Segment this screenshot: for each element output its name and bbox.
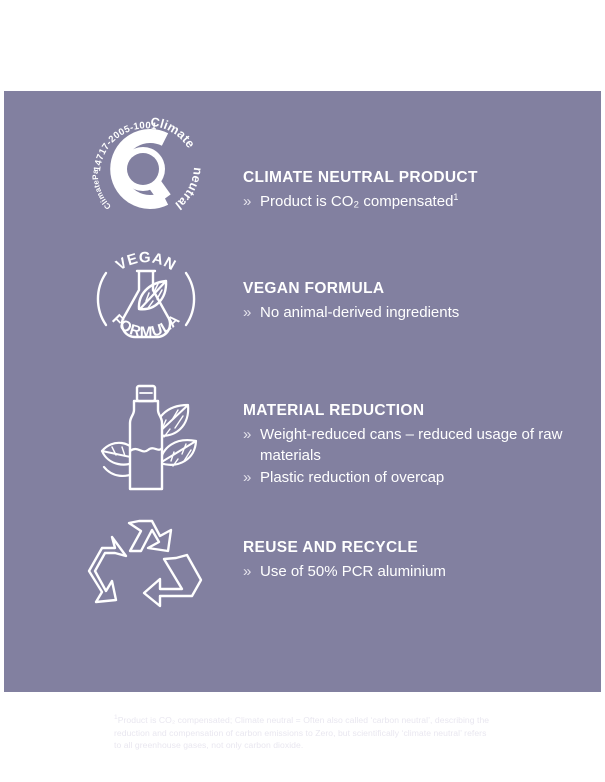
feature-climate-neutral-product: 14717-2005-1001 ClimatePartner Climate n… [4, 113, 601, 225]
bullet-marker-icon: » [243, 191, 260, 212]
vegan-arc-bottom-text: FORMULA [108, 311, 183, 341]
bullet-marker-icon: » [243, 561, 260, 582]
bullet-text: Plastic reduction of overcap [260, 467, 583, 488]
svg-text:FORMULA: FORMULA [108, 311, 183, 341]
feature-bullet: » Use of 50% PCR aluminium [243, 561, 583, 582]
feature-title: VEGAN FORMULA [243, 279, 583, 298]
feature-title: MATERIAL REDUCTION [243, 401, 583, 420]
bullet-text: Product is CO₂ compensated1 [260, 191, 583, 212]
aerosol-can-leaves-icon [76, 371, 216, 501]
feature-title: REUSE AND RECYCLE [243, 538, 583, 557]
feature-bullet: » Product is CO₂ compensated1 [243, 191, 583, 212]
feature-text-vegan-formula: VEGAN FORMULA » No animal-derived ingred… [243, 279, 583, 324]
badge-brand-name: ClimatePartner [79, 106, 112, 211]
recycle-loop-icon [76, 509, 216, 619]
bullet-marker-icon: » [243, 302, 260, 323]
vegan-flask-leaf-icon: VEGAN FORMULA [76, 237, 216, 361]
footnote: 1Product is CO₂ compensated; Climate neu… [114, 714, 494, 752]
feature-material-reduction: MATERIAL REDUCTION » Weight-reduced cans… [4, 371, 601, 501]
feature-bullet: » No animal-derived ingredients [243, 302, 583, 323]
feature-title: CLIMATE NEUTRAL PRODUCT [243, 168, 583, 187]
bullet-marker-icon: » [243, 424, 260, 445]
feature-text-climate-neutral-product: CLIMATE NEUTRAL PRODUCT » Product is CO₂… [243, 168, 583, 213]
feature-bullet: » Weight-reduced cans – reduced usage of… [243, 424, 583, 466]
svg-text:ClimatePartner: ClimatePartner [79, 106, 112, 211]
feature-bullet: » Plastic reduction of overcap [243, 467, 583, 488]
footnote-text: Product is CO₂ compensated; Climate neut… [114, 715, 489, 750]
bullet-text: Use of 50% PCR aluminium [260, 561, 583, 582]
feature-vegan-formula: VEGAN FORMULA VEGAN FORMULA » No animal-… [4, 237, 601, 361]
bullet-text: Weight-reduced cans – reduced usage of r… [260, 424, 583, 466]
svg-text:neutral: neutral [172, 167, 205, 213]
badge-word-neutral: neutral [172, 167, 205, 213]
feature-reuse-and-recycle: REUSE AND RECYCLE » Use of 50% PCR alumi… [4, 509, 601, 619]
feature-text-material-reduction: MATERIAL REDUCTION » Weight-reduced cans… [243, 401, 583, 489]
bullet-superscript: 1 [453, 192, 458, 202]
feature-text-reuse-and-recycle: REUSE AND RECYCLE » Use of 50% PCR alumi… [243, 538, 583, 583]
product-sustainability-panel: 14717-2005-1001 ClimatePartner Climate n… [0, 0, 605, 782]
purple-content-panel: 14717-2005-1001 ClimatePartner Climate n… [4, 91, 601, 692]
bullet-marker-icon: » [243, 467, 260, 488]
bullet-text: No animal-derived ingredients [260, 302, 583, 323]
climate-partner-badge-icon: 14717-2005-1001 ClimatePartner Climate n… [76, 113, 216, 225]
